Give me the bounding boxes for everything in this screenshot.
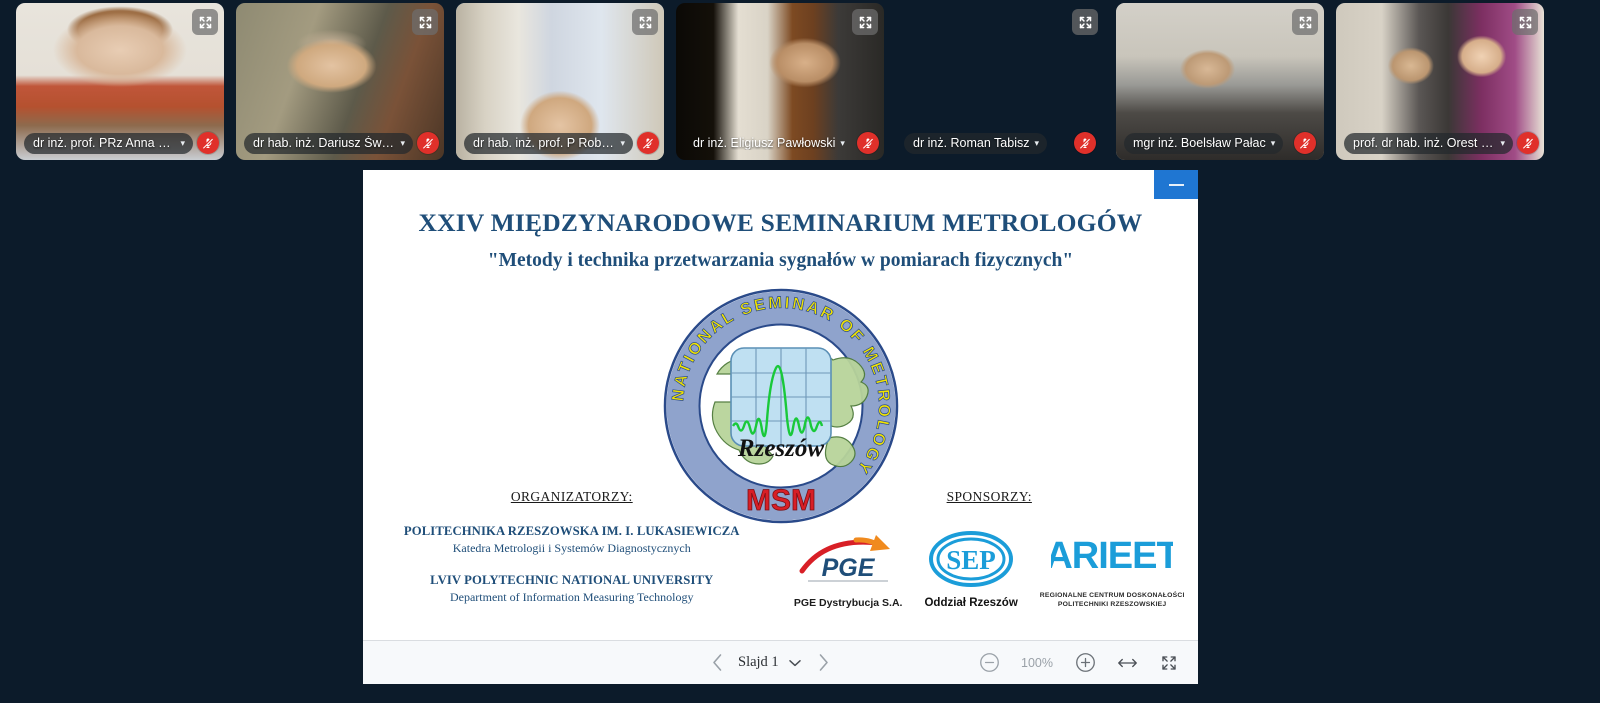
participant-name-pill[interactable]: dr inż. prof. PRz Anna Szlac… ▾	[24, 133, 193, 154]
organizer-department: Katedra Metrologii i Systemów Diagnostyc…	[363, 541, 781, 557]
zoom-in-icon[interactable]	[1072, 650, 1098, 676]
expand-icon[interactable]	[192, 9, 218, 35]
video-tile[interactable]: dr inż. Eligiusz Pawłowski ▾	[676, 3, 884, 160]
screen-share-panel: XXIV MIĘDZYNARODOWE SEMINARIUM METROLOGÓ…	[363, 170, 1198, 683]
participant-name: dr hab. inż. prof. P Robert …	[473, 136, 615, 150]
participant-name-bar: prof. dr hab. inż. Orest Ivak… ▾	[1344, 132, 1536, 154]
zoom-level-label: 100%	[1018, 656, 1056, 670]
organizers-heading: ORGANIZATORZY:	[511, 489, 633, 505]
sep-wordmark: SEP	[946, 545, 996, 575]
chevron-down-icon[interactable]: ▾	[840, 139, 845, 148]
participant-name-bar: dr inż. Roman Tabisz ▾	[904, 132, 1096, 154]
video-tile[interactable]: dr inż. prof. PRz Anna Szlac… ▾	[16, 3, 224, 160]
fit-width-icon[interactable]	[1114, 650, 1140, 676]
microphone-muted-icon[interactable]	[417, 132, 439, 154]
video-tile[interactable]: mgr inż. Boelsław Pałac ▾	[1116, 3, 1324, 160]
slide-number-label[interactable]: Slajd 1	[738, 654, 779, 671]
participant-name-pill[interactable]: dr hab. inż. prof. P Robert … ▾	[464, 133, 633, 154]
chevron-right-icon[interactable]	[811, 650, 837, 676]
organizer-name: POLITECHNIKA RZESZOWSKA IM. I. LUKASIEWI…	[363, 524, 781, 540]
organizer-entry: LVIV POLYTECHNIC NATIONAL UNIVERSITY Dep…	[363, 573, 781, 605]
microphone-muted-icon[interactable]	[1517, 132, 1539, 154]
sponsor-pge: PGE PGE Dystrybucja S.A.	[794, 531, 903, 609]
participant-name-pill[interactable]: mgr inż. Boelsław Pałac ▾	[1124, 133, 1283, 154]
participant-name-bar: dr inż. Eligiusz Pawłowski ▾	[684, 132, 876, 154]
expand-icon[interactable]	[1292, 9, 1318, 35]
microphone-muted-icon[interactable]	[857, 132, 879, 154]
organizer-entry: POLITECHNIKA RZESZOWSKA IM. I. LUKASIEWI…	[363, 524, 781, 556]
expand-icon[interactable]	[1512, 9, 1538, 35]
expand-icon[interactable]	[412, 9, 438, 35]
participant-name-bar: dr inż. prof. PRz Anna Szlac… ▾	[24, 132, 216, 154]
pge-wordmark: PGE	[822, 554, 876, 582]
sponsors-column: SPONSORZY: PGE PGE Dystrybucja S.A.	[781, 488, 1199, 609]
participant-name-bar: dr hab. inż. prof. P Robert … ▾	[464, 132, 656, 154]
video-participant-strip: dr inż. prof. PRz Anna Szlac… ▾ dr hab. …	[0, 0, 1600, 163]
minimize-icon[interactable]	[1154, 170, 1198, 199]
zoom-controls-group: 100%	[976, 650, 1182, 676]
slide-bottom-section: ORGANIZATORZY: POLITECHNIKA RZESZOWSKA I…	[363, 488, 1198, 609]
logo-city: Rzeszów	[736, 435, 823, 462]
sponsor-caption: Oddział Rzeszów	[924, 597, 1017, 609]
participant-name: dr hab. inż. Dariusz Świsuls…	[253, 136, 395, 150]
sponsor-arieet: ARIEET REGIONALNE CENTRUM DOSKONAŁOŚCI P…	[1040, 530, 1185, 609]
participant-name: dr inż. Roman Tabisz	[913, 136, 1030, 150]
microphone-muted-icon[interactable]	[1294, 132, 1316, 154]
expand-icon[interactable]	[632, 9, 658, 35]
sep-logo: SEP	[927, 531, 1015, 589]
expand-icon[interactable]	[852, 9, 878, 35]
fullscreen-icon[interactable]	[1156, 650, 1182, 676]
chevron-down-icon[interactable]	[787, 650, 803, 676]
participant-name: prof. dr hab. inż. Orest Ivak…	[1353, 136, 1495, 150]
sponsor-caption: PGE Dystrybucja S.A.	[794, 597, 903, 609]
participant-name-pill[interactable]: dr inż. Eligiusz Pawłowski ▾	[684, 133, 853, 154]
participant-name-pill[interactable]: dr inż. Roman Tabisz ▾	[904, 133, 1047, 154]
slide-toolbar: Slajd 1 100%	[363, 640, 1198, 684]
participant-name: mgr inż. Boelsław Pałac	[1133, 136, 1266, 150]
participant-name: dr inż. Eligiusz Pawłowski	[693, 136, 835, 150]
slide-nav-group: Slajd 1	[704, 650, 837, 676]
slide-subtitle: "Metody i technika przetwarzania sygnałó…	[363, 250, 1198, 272]
microphone-muted-icon[interactable]	[1074, 132, 1096, 154]
arieet-wordmark: ARIEET	[1051, 535, 1173, 577]
chevron-down-icon[interactable]: ▾	[400, 139, 405, 148]
organizer-department: Department of Information Measuring Tech…	[363, 590, 781, 606]
participant-name-bar: dr hab. inż. Dariusz Świsuls… ▾	[244, 132, 436, 154]
chevron-down-icon[interactable]: ▾	[1271, 139, 1276, 148]
video-tile[interactable]: dr inż. Roman Tabisz ▾	[896, 3, 1104, 160]
chevron-left-icon[interactable]	[704, 650, 730, 676]
zoom-out-icon[interactable]	[976, 650, 1002, 676]
organizers-column: ORGANIZATORZY: POLITECHNIKA RZESZOWSKA I…	[363, 488, 781, 609]
participant-name-bar: mgr inż. Boelsław Pałac ▾	[1124, 132, 1316, 154]
organizer-name: LVIV POLYTECHNIC NATIONAL UNIVERSITY	[363, 573, 781, 589]
sponsor-caption-line2: POLITECHNIKI RZESZOWSKIEJ	[1040, 600, 1185, 609]
expand-icon[interactable]	[1072, 9, 1098, 35]
chevron-down-icon[interactable]: ▾	[180, 139, 185, 148]
sponsor-caption-line1: REGIONALNE CENTRUM DOSKONAŁOŚCI	[1040, 591, 1185, 600]
microphone-muted-icon[interactable]	[637, 132, 659, 154]
sponsor-logos: PGE PGE Dystrybucja S.A. SEP Oddział Rze…	[781, 530, 1199, 609]
participant-name: dr inż. prof. PRz Anna Szlac…	[33, 136, 175, 150]
minimize-bar	[1169, 184, 1184, 186]
chevron-down-icon[interactable]: ▾	[620, 139, 625, 148]
microphone-muted-icon[interactable]	[197, 132, 219, 154]
chevron-down-icon[interactable]: ▾	[1500, 139, 1505, 148]
slide-title: XXIV MIĘDZYNARODOWE SEMINARIUM METROLOGÓ…	[363, 208, 1198, 238]
video-tile[interactable]: prof. dr hab. inż. Orest Ivak… ▾	[1336, 3, 1544, 160]
participant-name-pill[interactable]: prof. dr hab. inż. Orest Ivak… ▾	[1344, 133, 1513, 154]
sponsors-heading: SPONSORZY:	[947, 489, 1032, 505]
video-tile[interactable]: dr hab. inż. Dariusz Świsuls… ▾	[236, 3, 444, 160]
pge-logo: PGE	[796, 531, 900, 589]
sponsor-sep: SEP Oddział Rzeszów	[924, 531, 1017, 609]
chevron-down-icon[interactable]: ▾	[1035, 139, 1040, 148]
video-tile[interactable]: dr hab. inż. prof. P Robert … ▾	[456, 3, 664, 160]
participant-name-pill[interactable]: dr hab. inż. Dariusz Świsuls… ▾	[244, 133, 413, 154]
arieet-logo: ARIEET	[1051, 530, 1173, 582]
presentation-slide[interactable]: XXIV MIĘDZYNARODOWE SEMINARIUM METROLOGÓ…	[363, 170, 1198, 640]
